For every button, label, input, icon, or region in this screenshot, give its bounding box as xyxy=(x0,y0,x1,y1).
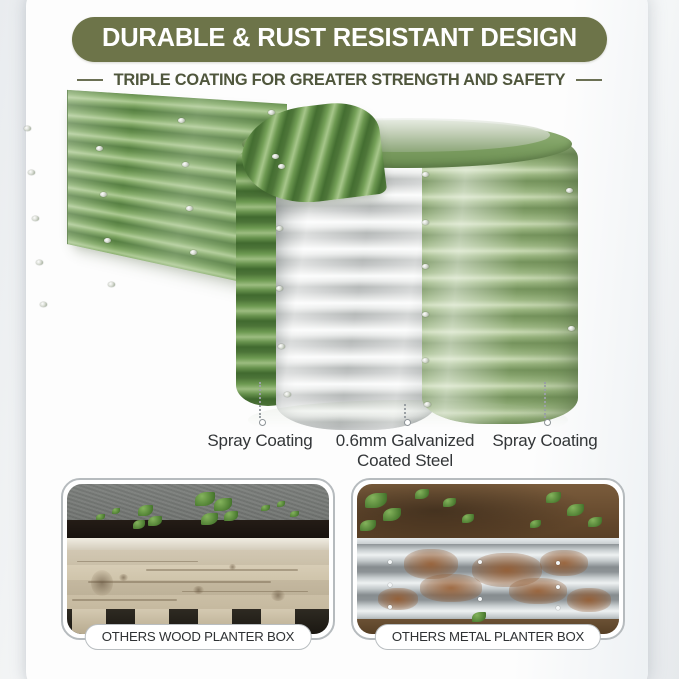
subtitle-row: TRIPLE COATING FOR GREATER STRENGTH AND … xyxy=(0,71,679,90)
screw-icon xyxy=(268,110,275,115)
screw-icon xyxy=(278,164,285,169)
subtitle: TRIPLE COATING FOR GREATER STRENGTH AND … xyxy=(114,71,566,90)
screw-icon xyxy=(40,302,47,307)
metal-planter-photo xyxy=(357,484,619,634)
rust-stain xyxy=(567,588,611,612)
rivet-icon xyxy=(478,560,482,564)
panel-caption-wood: OTHERS WOOD PLANTER BOX xyxy=(85,624,312,650)
leaf-icon xyxy=(201,513,218,525)
callout-label: Spray Coating xyxy=(185,431,335,451)
rust-stain xyxy=(540,550,588,576)
rust-stain xyxy=(378,588,418,610)
callout-label: 0.6mm Galvanized Coated Steel xyxy=(327,431,483,471)
corrugated-metal-body xyxy=(357,544,619,622)
screw-icon xyxy=(96,146,103,151)
screw-icon xyxy=(276,286,283,291)
leader-line xyxy=(259,382,261,426)
leaf-icon xyxy=(567,504,584,516)
callout-group: Spray Coating 0.6mm Galvanized Coated St… xyxy=(0,382,679,474)
leader-line xyxy=(404,404,406,426)
wood-knot xyxy=(119,574,128,581)
leader-dot xyxy=(404,419,411,426)
screw-icon xyxy=(32,216,39,221)
leaf-icon xyxy=(277,501,285,507)
wood-knot xyxy=(193,586,204,594)
screw-icon xyxy=(100,192,107,197)
leader-dot xyxy=(259,419,266,426)
rust-stain xyxy=(509,578,567,604)
screw-icon xyxy=(108,282,115,287)
wood-grain xyxy=(72,599,177,601)
leader-dot xyxy=(544,419,551,426)
screw-icon xyxy=(28,170,35,175)
screw-icon xyxy=(422,220,429,225)
rivet-icon xyxy=(388,583,392,587)
infographic-canvas: DURABLE & RUST RESISTANT DESIGN TRIPLE C… xyxy=(0,0,679,679)
comparison-panel-wood: OTHERS WOOD PLANTER BOX xyxy=(61,478,335,640)
cylinder-sage-green-face xyxy=(422,132,578,424)
screw-icon xyxy=(566,188,573,193)
screw-icon xyxy=(104,238,111,243)
callout-galvanized-steel: 0.6mm Galvanized Coated Steel xyxy=(327,404,483,471)
rust-stain xyxy=(420,574,482,602)
rivet-icon xyxy=(478,597,482,601)
screw-icon xyxy=(276,226,283,231)
wood-body xyxy=(67,550,329,610)
panel-caption-metal: OTHERS METAL PLANTER BOX xyxy=(375,624,601,650)
dash-left-icon xyxy=(77,79,103,81)
wood-grain xyxy=(77,561,198,563)
rivet-icon xyxy=(556,606,560,610)
wood-grain xyxy=(146,569,298,571)
screw-icon xyxy=(24,126,31,131)
product-illustration xyxy=(0,88,679,428)
screw-icon xyxy=(422,358,429,363)
screw-icon xyxy=(278,344,285,349)
dash-right-icon xyxy=(576,79,602,81)
leaf-icon xyxy=(546,492,561,503)
screw-icon xyxy=(568,326,575,331)
screw-icon xyxy=(422,172,429,177)
leaf-icon xyxy=(112,508,120,514)
comparison-panels: OTHERS WOOD PLANTER BOX xyxy=(0,478,679,658)
callout-spray-coating-left: Spray Coating xyxy=(185,382,335,451)
comparison-panel-metal: OTHERS METAL PLANTER BOX xyxy=(351,478,625,640)
screw-icon xyxy=(422,312,429,317)
rivet-icon xyxy=(556,585,560,589)
leaf-icon xyxy=(214,498,232,511)
screw-icon xyxy=(178,118,185,123)
wood-planter-photo xyxy=(67,484,329,634)
screw-icon xyxy=(422,264,429,269)
header: DURABLE & RUST RESISTANT DESIGN TRIPLE C… xyxy=(0,0,679,90)
leader-line xyxy=(544,382,546,426)
wood-knot xyxy=(271,590,285,601)
wood-knot xyxy=(91,570,113,596)
page-title: DURABLE & RUST RESISTANT DESIGN xyxy=(72,17,607,62)
screw-icon xyxy=(182,162,189,167)
screw-icon xyxy=(36,260,43,265)
screw-icon xyxy=(190,250,197,255)
screw-icon xyxy=(186,206,193,211)
callout-spray-coating-right: Spray Coating xyxy=(470,382,620,451)
leaf-icon xyxy=(415,489,429,499)
callout-label: Spray Coating xyxy=(470,431,620,451)
rivet-icon xyxy=(388,560,392,564)
wood-grain xyxy=(88,581,271,583)
screw-icon xyxy=(272,154,279,159)
